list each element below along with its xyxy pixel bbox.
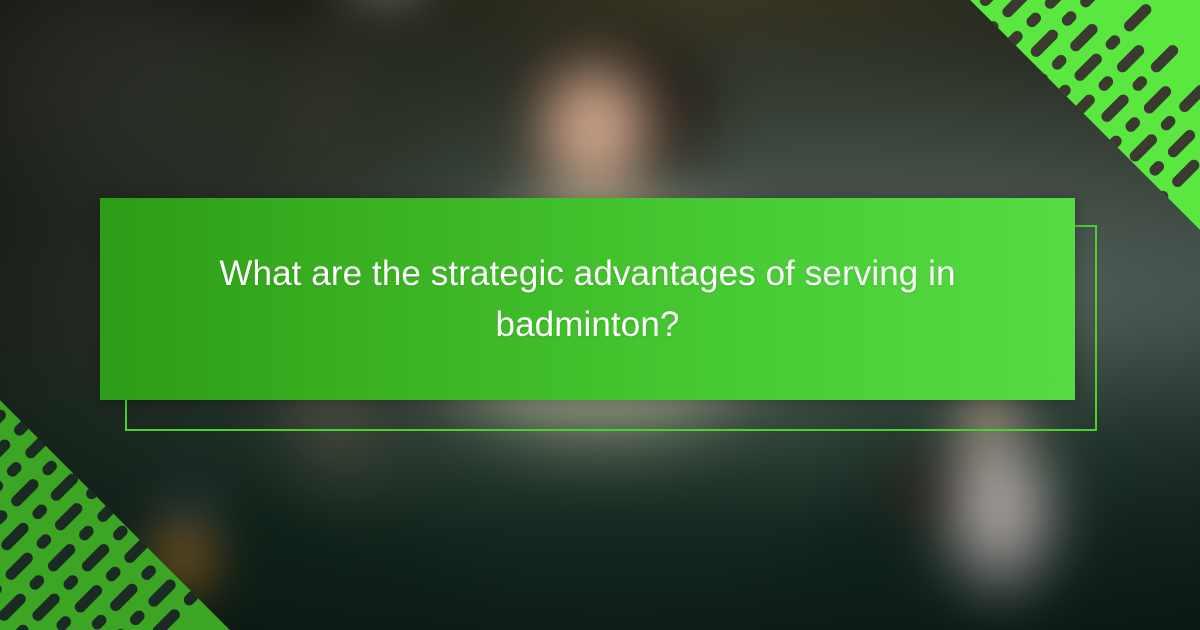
page-title: What are the strategic advantages of ser… [193,248,983,351]
hero-card: What are the strategic advantages of ser… [0,0,1200,630]
headline-banner: What are the strategic advantages of ser… [100,198,1075,400]
